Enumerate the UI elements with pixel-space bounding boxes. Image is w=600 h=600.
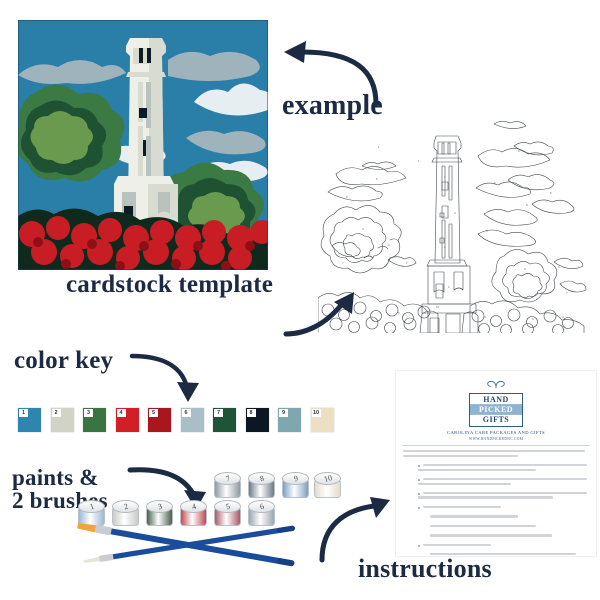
paint-pot: 7 [214, 472, 241, 498]
instruction-line [430, 525, 582, 529]
color-swatch: 6 [181, 408, 204, 432]
color-swatch: 1 [18, 408, 41, 432]
instruction-bullet-icon [418, 479, 420, 481]
paint-pot-number: 8 [248, 472, 275, 485]
instruction-text-line [418, 469, 536, 471]
color-swatch: 10 [311, 408, 334, 432]
instruction-paragraph [418, 464, 587, 473]
instruction-subtitle: Carolina Care Packages and Gifts [396, 430, 596, 435]
example-label: example [282, 92, 383, 121]
instruction-text-line [423, 478, 587, 480]
logo-line-gifts: GIFTS [470, 415, 522, 424]
instruction-text-line [418, 483, 511, 485]
paint-pot: 10 [314, 472, 341, 498]
instruction-bullet-icon [418, 507, 420, 509]
cardstock-template-label: cardstock template [66, 272, 273, 298]
paint-pot-number: 4 [180, 500, 207, 513]
paint-pot: 9 [282, 472, 309, 498]
instruction-line [418, 506, 587, 510]
color-swatch: 2 [51, 408, 74, 432]
brushes-icon [52, 520, 302, 568]
instruction-line [418, 496, 587, 500]
color-swatch-number: 7 [214, 409, 223, 417]
color-swatch-number: 9 [279, 409, 288, 417]
color-swatch: 7 [213, 408, 236, 432]
instruction-paragraph [430, 525, 582, 529]
instruction-paragraph [403, 450, 589, 459]
gift-bow-icon [469, 379, 523, 388]
paint-pot-number: 2 [112, 500, 139, 513]
instruction-paragraph [418, 478, 587, 487]
instruction-line [418, 469, 587, 473]
color-key-label: color key [14, 348, 113, 374]
instruction-sheet: HAND PICKED GIFTS Carolina Care Packages… [396, 371, 596, 556]
instruction-text-line [430, 534, 552, 536]
instruction-website: www.HandPickedNC.com [396, 437, 596, 441]
instruction-divider [402, 445, 590, 446]
instruction-text-line [430, 525, 536, 527]
instruction-paragraph [430, 553, 582, 556]
svg-text:10: 10 [436, 305, 440, 309]
example-painting [18, 20, 268, 270]
instruction-text-line [418, 496, 553, 498]
instruction-bullet-icon [418, 493, 420, 495]
brushes-group [52, 520, 302, 568]
instruction-body-text [396, 450, 596, 556]
color-swatch-number: 1 [19, 409, 28, 417]
color-swatch-number: 3 [84, 409, 93, 417]
instruction-paragraph [418, 492, 587, 501]
color-swatch-number: 4 [117, 409, 126, 417]
paint-pot-number: 6 [248, 500, 275, 513]
instruction-paragraph [418, 506, 587, 510]
instruction-paragraph [430, 534, 582, 538]
color-swatch: 3 [83, 408, 106, 432]
color-swatch: 4 [116, 408, 139, 432]
color-swatch: 5 [148, 408, 171, 432]
instruction-text-line [403, 450, 585, 452]
instruction-text-line [430, 515, 518, 517]
hand-picked-gifts-logo: HAND PICKED GIFTS [469, 375, 523, 427]
paint-pot: 8 [248, 472, 275, 498]
instruction-line [430, 534, 582, 538]
instruction-paragraph [430, 515, 582, 519]
color-swatch-number: 5 [149, 409, 158, 417]
instruction-text-line [423, 492, 587, 494]
color-key-row: 12345678910 [18, 408, 334, 432]
kit-contents-layout: 668 666 633 773 372 222 1044 545 411 [0, 0, 600, 600]
color-swatch-number: 8 [247, 409, 256, 417]
instruction-text-line [403, 455, 518, 457]
instruction-text-line [423, 506, 501, 508]
belltower-painting-art [18, 20, 268, 270]
paint-pot-number: 1 [78, 500, 105, 513]
paint-pot-number: 5 [214, 500, 241, 513]
color-swatch: 8 [246, 408, 269, 432]
paint-pot-number: 3 [146, 500, 173, 513]
instruction-line [403, 455, 589, 459]
paint-pot-number: 7 [214, 472, 241, 485]
paint-pot-number: 9 [282, 472, 309, 485]
logo-line-hand: HAND [470, 395, 522, 405]
instruction-text-line [423, 544, 491, 546]
instruction-line [418, 483, 587, 487]
instruction-paragraph [418, 544, 587, 548]
instruction-line [430, 515, 582, 519]
instruction-bullet-icon [418, 545, 420, 547]
logo-line-picked: PICKED [470, 405, 522, 415]
instruction-line [430, 553, 582, 556]
arrow-to-template-icon [282, 288, 374, 338]
color-swatch-number: 10 [312, 409, 321, 417]
instructions-label: instructions [358, 556, 492, 583]
color-swatch: 9 [278, 408, 301, 432]
instruction-bullet-icon [418, 465, 420, 467]
paint-pot-number: 10 [314, 472, 341, 485]
instruction-text-line [423, 464, 587, 466]
instruction-text-line [430, 553, 576, 555]
arrow-to-color-key-icon [128, 350, 204, 406]
color-swatch-number: 2 [52, 409, 61, 417]
instruction-line [418, 544, 587, 548]
color-swatch-number: 6 [182, 409, 191, 417]
